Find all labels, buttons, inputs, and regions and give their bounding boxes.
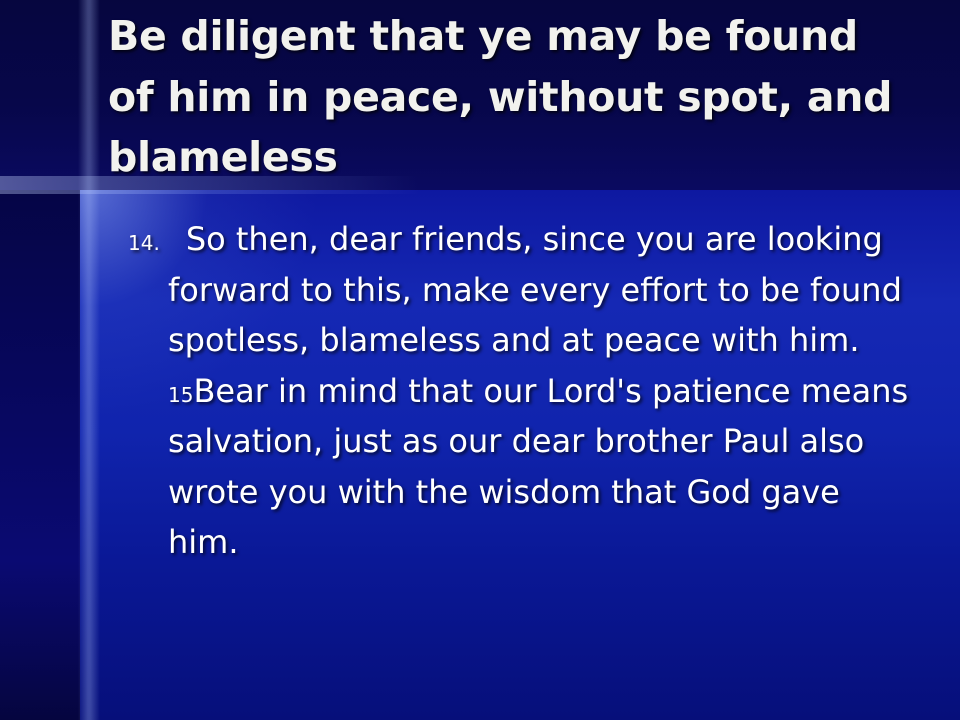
left-background-strip xyxy=(0,190,80,720)
slide: Be diligent that ye may be found of him … xyxy=(0,0,960,720)
verse-14-number: 14. xyxy=(128,231,160,255)
slide-title: Be diligent that ye may be found of him … xyxy=(108,6,908,188)
slide-body: 14.So then, dear friends, since you are … xyxy=(118,214,918,568)
vertical-light-beam xyxy=(78,0,100,720)
verse-14-text: So then, dear friends, since you are loo… xyxy=(168,220,902,359)
verse-15-text: Bear in mind that our Lord's patience me… xyxy=(168,372,908,562)
verse-15-number: 15 xyxy=(168,383,193,407)
scripture-paragraph: 14.So then, dear friends, since you are … xyxy=(118,214,918,568)
